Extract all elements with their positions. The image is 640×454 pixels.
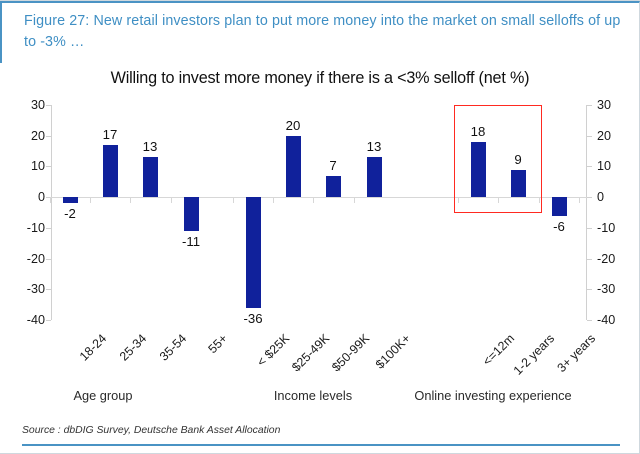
y-axis-tick-label: 20 bbox=[597, 130, 611, 143]
bar[interactable] bbox=[63, 197, 78, 203]
y-axis-tick bbox=[587, 259, 592, 260]
source-note: Source : dbDIG Survey, Deutsche Bank Ass… bbox=[22, 425, 280, 436]
x-axis-tick bbox=[313, 197, 314, 203]
bar[interactable] bbox=[552, 197, 567, 215]
x-axis-tick bbox=[90, 197, 91, 203]
y-axis-tick-label: -40 bbox=[597, 314, 615, 327]
y-axis-tick bbox=[587, 228, 592, 229]
x-axis-tick bbox=[354, 197, 355, 203]
y-axis-tick-label: -30 bbox=[27, 283, 45, 296]
y-axis-tick bbox=[587, 166, 592, 167]
bar[interactable] bbox=[246, 197, 261, 308]
bar-value-label: 9 bbox=[496, 153, 540, 166]
y-axis-tick bbox=[587, 105, 592, 106]
footer-rule bbox=[22, 444, 620, 446]
x-axis-tick bbox=[273, 197, 274, 203]
y-axis-tick bbox=[46, 166, 51, 167]
bar-value-label: 13 bbox=[128, 140, 172, 153]
figure-header: Figure 27: New retail investors plan to … bbox=[0, 1, 640, 63]
bar[interactable] bbox=[103, 145, 118, 197]
x-axis-tick bbox=[171, 197, 172, 203]
x-axis-tick bbox=[130, 197, 131, 203]
plot-area: 30302020101000-10-10-20-20-30-30-40-40-2… bbox=[0, 97, 640, 417]
y-axis-tick-label: 0 bbox=[597, 191, 604, 204]
x-axis-tick bbox=[50, 197, 51, 203]
y-axis-tick-label: -10 bbox=[597, 222, 615, 235]
y-axis-tick bbox=[587, 320, 592, 321]
bar-value-label: -11 bbox=[169, 235, 213, 248]
y-axis-tick-label: 30 bbox=[597, 99, 611, 112]
bar-value-label: 17 bbox=[88, 128, 132, 141]
y-axis-tick bbox=[46, 259, 51, 260]
bar-value-label: -6 bbox=[537, 220, 581, 233]
bar-value-label: 13 bbox=[352, 140, 396, 153]
bar-value-label: 7 bbox=[311, 159, 355, 172]
x-axis-tick bbox=[458, 197, 459, 203]
y-axis-tick-label: 0 bbox=[38, 191, 45, 204]
y-axis-tick bbox=[46, 105, 51, 106]
bar[interactable] bbox=[367, 157, 382, 197]
y-axis-tick-label: -30 bbox=[597, 283, 615, 296]
bar[interactable] bbox=[184, 197, 199, 231]
bar[interactable] bbox=[326, 176, 341, 198]
bar-value-label: -36 bbox=[231, 312, 275, 325]
bar-value-label: 20 bbox=[271, 119, 315, 132]
x-axis-group-label: Income levels bbox=[213, 390, 413, 403]
y-axis-tick bbox=[46, 136, 51, 137]
x-axis-group-label: Online investing experience bbox=[393, 390, 593, 403]
figure-caption: Figure 27: New retail investors plan to … bbox=[24, 11, 624, 53]
bar[interactable] bbox=[511, 170, 526, 198]
y-axis-tick bbox=[46, 228, 51, 229]
bar[interactable] bbox=[286, 136, 301, 197]
y-axis-tick-label: 30 bbox=[31, 99, 45, 112]
x-axis-tick bbox=[498, 197, 499, 203]
x-axis-tick bbox=[539, 197, 540, 203]
y-axis-tick-label: 10 bbox=[597, 160, 611, 173]
x-axis-tick bbox=[579, 197, 580, 203]
x-axis-tick bbox=[233, 197, 234, 203]
bar[interactable] bbox=[471, 142, 486, 197]
x-axis-group-label: Age group bbox=[3, 390, 203, 403]
y-axis-tick bbox=[587, 136, 592, 137]
bar[interactable] bbox=[143, 157, 158, 197]
bar-value-label: -2 bbox=[48, 207, 92, 220]
y-axis-tick-label: 20 bbox=[31, 130, 45, 143]
bar-value-label: 18 bbox=[456, 125, 500, 138]
y-axis-tick bbox=[46, 320, 51, 321]
y-axis-tick-label: -40 bbox=[27, 314, 45, 327]
y-axis-tick-label: -20 bbox=[27, 253, 45, 266]
y-axis-tick-label: -20 bbox=[597, 253, 615, 266]
y-axis-right bbox=[586, 105, 587, 320]
y-axis-tick bbox=[587, 289, 592, 290]
chart-title: Willing to invest more money if there is… bbox=[0, 69, 640, 88]
y-axis-tick-label: 10 bbox=[31, 160, 45, 173]
y-axis-tick bbox=[46, 289, 51, 290]
figure-container: Figure 27: New retail investors plan to … bbox=[0, 0, 640, 454]
y-axis-tick-label: -10 bbox=[27, 222, 45, 235]
y-axis-tick bbox=[587, 197, 592, 198]
